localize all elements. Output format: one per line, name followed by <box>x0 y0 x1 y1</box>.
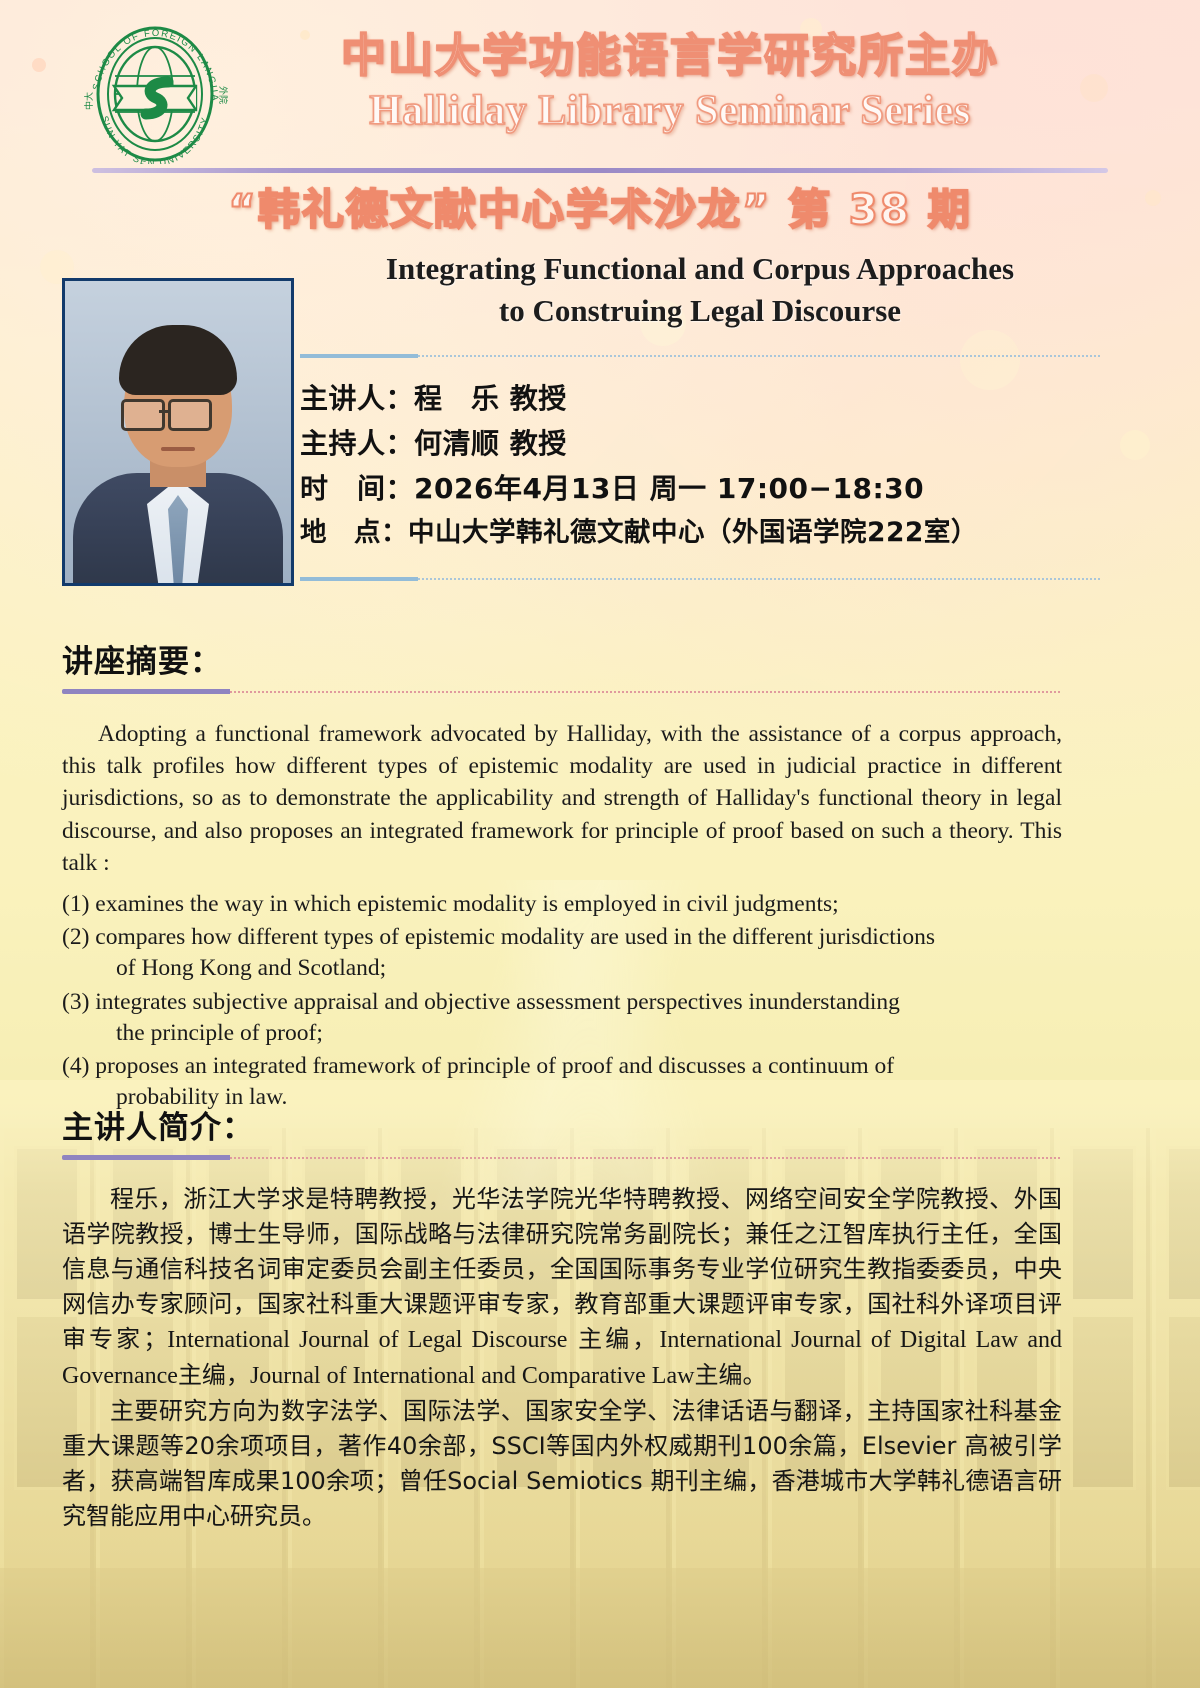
venue-label: 地 点： <box>300 517 408 548</box>
journal-name-3: Journal of International and Comparative… <box>250 1363 695 1389</box>
speaker-portrait <box>62 278 294 586</box>
list-item: (2) compares how different types of epis… <box>62 922 1062 985</box>
host-value: 何清顺 教授 <box>414 427 567 460</box>
speaker-value: 程 乐 教授 <box>414 382 567 415</box>
details-divider-top <box>300 354 1100 358</box>
list-text: proposes an integrated framework of prin… <box>95 1053 894 1079</box>
host-label: 主持人： <box>300 427 414 460</box>
list-marker: (2) <box>62 924 89 950</box>
seminar-poster: SCHOOL OF FOREIGN LANGUAGES SUN YAT SEN … <box>0 0 1200 1688</box>
abstract-list: (1) examines the way in which epistemic … <box>62 889 1062 1114</box>
talk-title: Integrating Functional and Corpus Approa… <box>300 248 1100 332</box>
time-label: 时 间： <box>300 472 414 505</box>
details-divider-bottom <box>300 577 1100 581</box>
bokeh-dot <box>1120 430 1150 460</box>
list-marker: (4) <box>62 1053 89 1079</box>
list-item: (1) examines the way in which epistemic … <box>62 889 1062 920</box>
list-text-continuation: of Hong Kong and Scotland; <box>106 953 1062 984</box>
abstract-section: 讲座摘要： Adopting a functional framework ad… <box>62 636 1062 1116</box>
talk-details: Integrating Functional and Corpus Approa… <box>300 248 1100 581</box>
speaker-label: 主讲人： <box>300 382 414 415</box>
abstract-paragraph: Adopting a functional framework advocate… <box>62 718 1062 879</box>
list-marker: (1) <box>62 891 89 917</box>
talk-title-line2: to Construing Legal Discourse <box>499 293 901 328</box>
time-row: 时 间：2026年4月13日 周一 17:00−18:30 <box>300 466 1100 511</box>
list-text: integrates subjective appraisal and obje… <box>95 989 900 1015</box>
speaker-row: 主讲人：程 乐 教授 <box>300 376 1100 421</box>
list-text-continuation: the principle of proof; <box>106 1018 1062 1049</box>
time-value: 2026年4月13日 周一 17:00−18:30 <box>414 472 924 505</box>
host-row: 主持人：何清顺 教授 <box>300 421 1100 466</box>
abstract-heading-divider <box>62 689 1062 694</box>
svg-text:外院: 外院 <box>217 86 229 104</box>
svg-text:SUN YAT SEN UNIVERSITY: SUN YAT SEN UNIVERSITY <box>98 115 211 164</box>
university-seal-logo: SCHOOL OF FOREIGN LANGUAGES SUN YAT SEN … <box>70 24 240 164</box>
header-titles: 中山大学功能语言学研究所主办 Halliday Library Seminar … <box>255 30 1085 136</box>
abstract-heading: 讲座摘要： <box>62 636 1062 689</box>
bio-heading: 主讲人简介： <box>62 1102 1062 1155</box>
list-item: (3) integrates subjective appraisal and … <box>62 987 1062 1050</box>
talk-meta-list: 主讲人：程 乐 教授 主持人：何清顺 教授 时 间：2026年4月13日 周一 … <box>300 376 1100 555</box>
series-title-en: Halliday Library Seminar Series <box>255 86 1085 136</box>
list-text: compares how different types of epistemi… <box>95 924 935 950</box>
bio-paragraph-1: 程乐，浙江大学求是特聘教授，光华法学院光华特聘教授、网络空间安全学院教授、外国语… <box>62 1182 1062 1394</box>
journal-suffix-3: 主编。 <box>694 1361 766 1389</box>
list-marker: (3) <box>62 989 89 1015</box>
bio-heading-divider <box>62 1155 1062 1160</box>
journal-suffix-2: 主编， <box>178 1361 250 1389</box>
poster-header: SCHOOL OF FOREIGN LANGUAGES SUN YAT SEN … <box>0 0 1200 240</box>
journal-name-1: International Journal of Legal Discourse <box>167 1327 567 1353</box>
bio-paragraph-2: 主要研究方向为数字法学、国际法学、国家安全学、法律话语与翻译，主持国家社科基金重… <box>62 1394 1062 1534</box>
talk-title-line1: Integrating Functional and Corpus Approa… <box>386 251 1014 286</box>
speaker-bio-section: 主讲人简介： 程乐，浙江大学求是特聘教授，光华法学院光华特聘教授、网络空间安全学… <box>62 1102 1062 1534</box>
venue-value: 中山大学韩礼德文献中心（外国语学院222室） <box>408 517 978 548</box>
journal-suffix-1: 主编， <box>567 1325 659 1353</box>
organizer-title-cn: 中山大学功能语言学研究所主办 <box>255 30 1085 82</box>
bio-body: 程乐，浙江大学求是特聘教授，光华法学院光华特聘教授、网络空间安全学院教授、外国语… <box>62 1182 1062 1534</box>
header-divider <box>92 168 1108 173</box>
venue-row: 地 点：中山大学韩礼德文献中心（外国语学院222室） <box>300 512 1100 555</box>
list-text: examines the way in which epistemic moda… <box>95 891 838 917</box>
svg-text:中大: 中大 <box>83 92 95 110</box>
series-title-cn: “韩礼德文献中心学术沙龙” 第 38 期 <box>0 176 1200 237</box>
